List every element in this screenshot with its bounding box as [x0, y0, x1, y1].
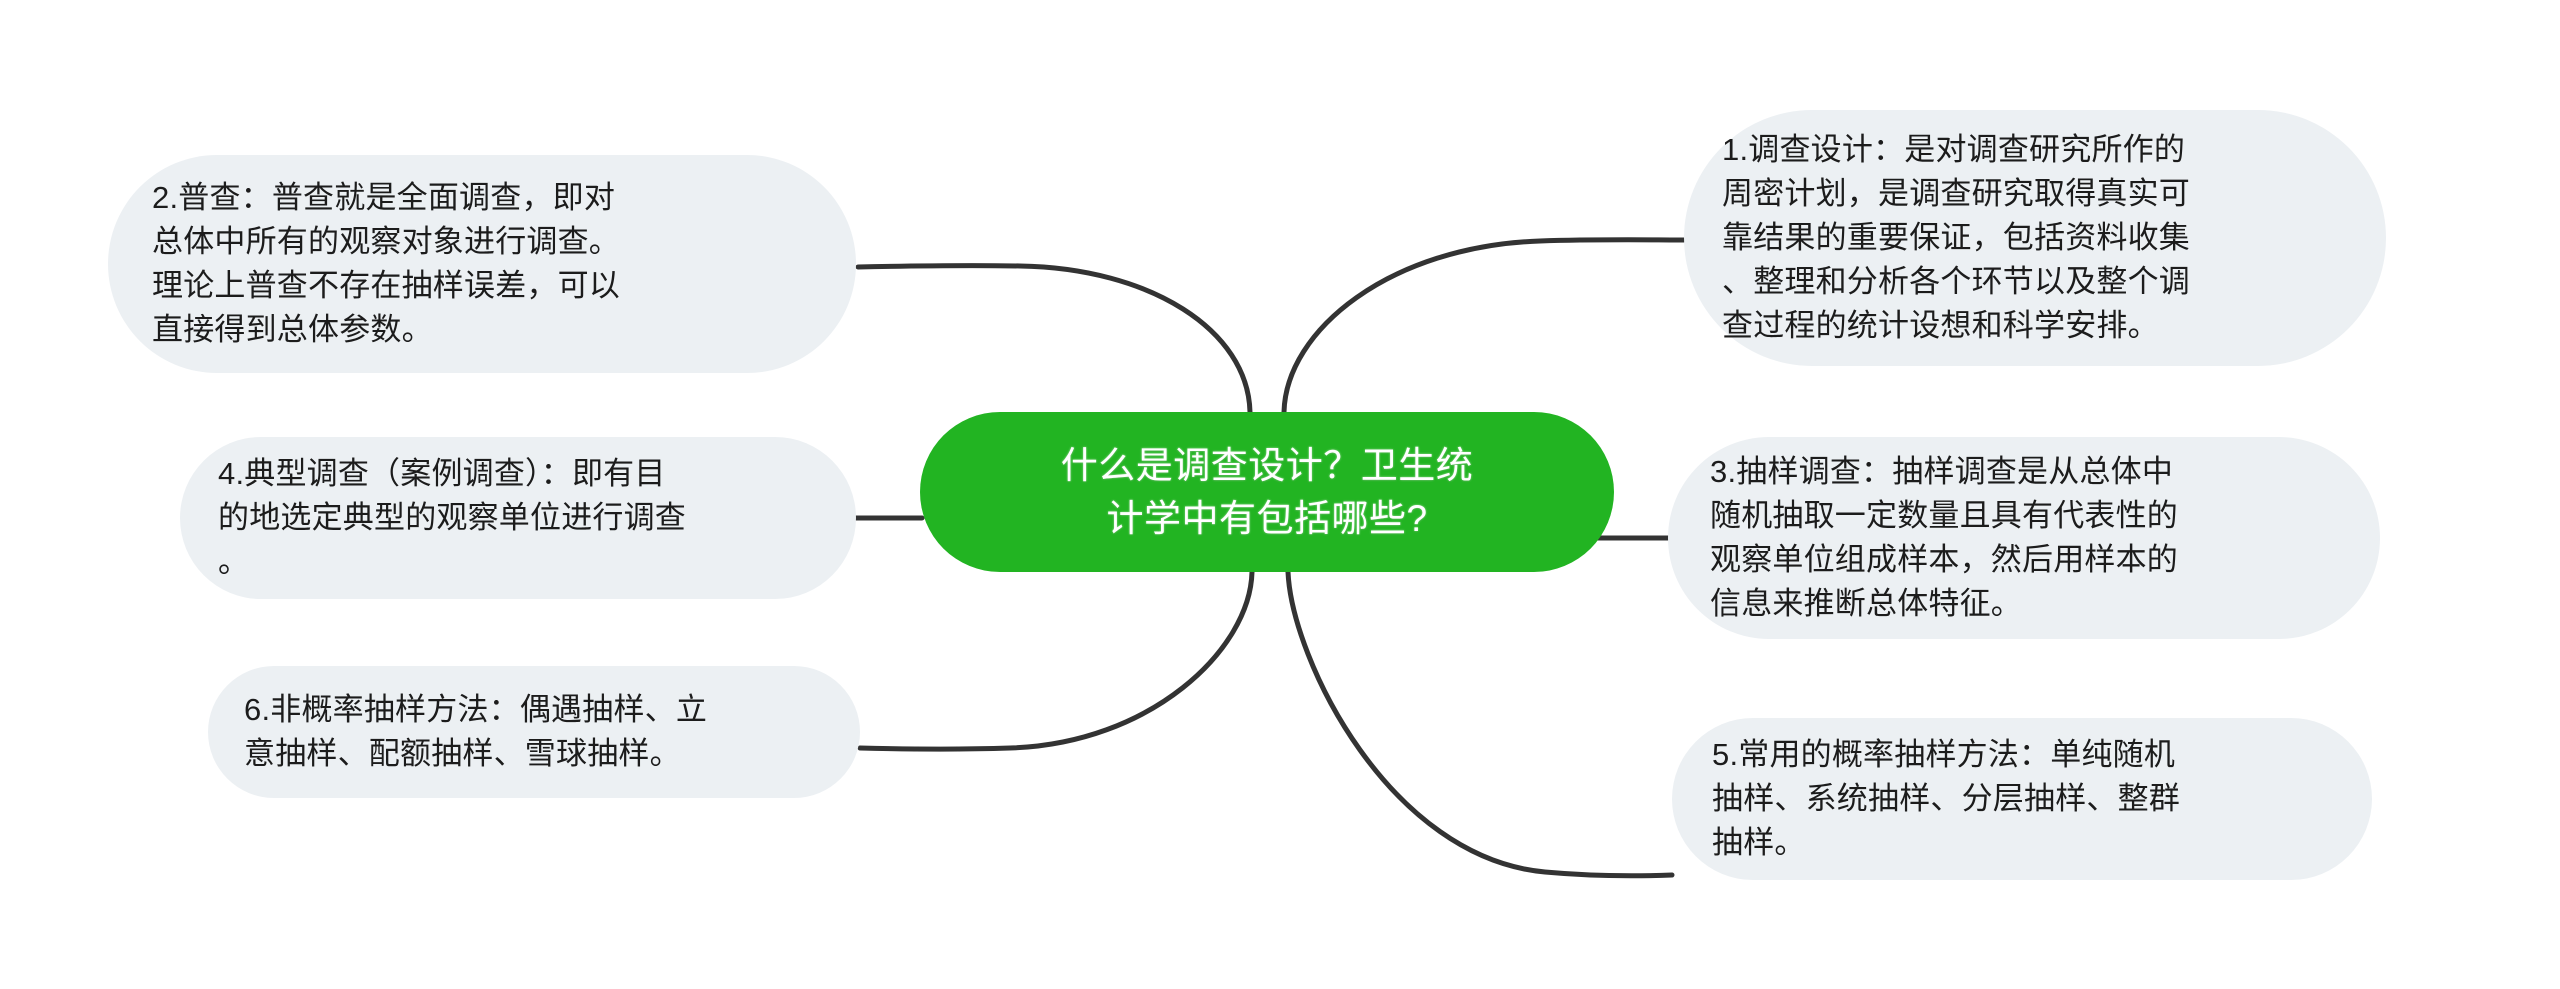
- branch-node-6[interactable]: 6.非概率抽样方法：偶遇抽样、立 意抽样、配额抽样、雪球抽样。: [208, 666, 860, 798]
- connector-to-node-2: [858, 266, 1250, 412]
- branch-node-1[interactable]: 1.调查设计：是对调查研究所作的 周密计划，是调查研究取得真实可 靠结果的重要保…: [1684, 110, 2386, 366]
- root-node[interactable]: 什么是调查设计？卫生统 计学中有包括哪些?: [920, 412, 1614, 572]
- connector-to-node-5: [1288, 572, 1672, 876]
- branch-node-5[interactable]: 5.常用的概率抽样方法：单纯随机 抽样、系统抽样、分层抽样、整群 抽样。: [1672, 718, 2372, 880]
- root-node-label: 什么是调查设计？卫生统 计学中有包括哪些?: [920, 439, 1614, 546]
- branch-node-3-label: 3.抽样调查：抽样调查是从总体中 随机抽取一定数量且具有代表性的 观察单位组成样…: [1710, 450, 2350, 626]
- branch-node-3[interactable]: 3.抽样调查：抽样调查是从总体中 随机抽取一定数量且具有代表性的 观察单位组成样…: [1668, 437, 2380, 639]
- branch-node-4[interactable]: 4.典型调查（案例调查）：即有目 的地选定典型的观察单位进行调查 。: [180, 437, 856, 599]
- mindmap-canvas: 什么是调查设计？卫生统 计学中有包括哪些? 1.调查设计：是对调查研究所作的 周…: [0, 0, 2560, 989]
- branch-node-5-label: 5.常用的概率抽样方法：单纯随机 抽样、系统抽样、分层抽样、整群 抽样。: [1712, 733, 2344, 865]
- branch-node-4-label: 4.典型调查（案例调查）：即有目 的地选定典型的观察单位进行调查 。: [218, 452, 828, 584]
- branch-node-2[interactable]: 2.普查：普查就是全面调查，即对 总体中所有的观察对象进行调查。 理论上普查不存…: [108, 155, 856, 373]
- connector-to-node-6: [860, 572, 1252, 749]
- connector-to-node-1: [1284, 240, 1684, 412]
- branch-node-6-label: 6.非概率抽样方法：偶遇抽样、立 意抽样、配额抽样、雪球抽样。: [244, 688, 834, 776]
- branch-node-1-label: 1.调查设计：是对调查研究所作的 周密计划，是调查研究取得真实可 靠结果的重要保…: [1722, 128, 2352, 348]
- branch-node-2-label: 2.普查：普查就是全面调查，即对 总体中所有的观察对象进行调查。 理论上普查不存…: [152, 176, 826, 352]
